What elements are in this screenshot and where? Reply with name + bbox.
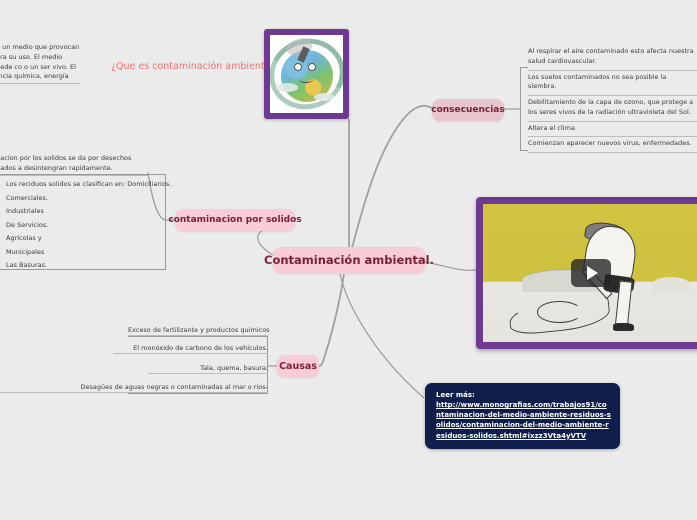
play-triangle — [587, 266, 598, 280]
definition-text: an un medio que provocan para su uso. El… — [0, 43, 80, 84]
list-item[interactable]: Comienzan aparecer nuevos virus, enferme… — [528, 137, 697, 153]
list-item[interactable]: Los reciduos solidos se clasifican en: D… — [6, 181, 159, 188]
question-label: ¿Que es contaminación ambiental? — [111, 61, 278, 72]
earth-eye-left — [294, 63, 302, 71]
snake-decor-2 — [537, 301, 582, 322]
list-item[interactable]: Debilitamiento de la capa de ozono, que … — [528, 96, 697, 122]
link-box[interactable]: Leer más: http://www.monografias.com/tra… — [425, 383, 620, 449]
list-item[interactable]: Tala, quema, basura. — [148, 364, 268, 374]
list-item[interactable]: Agrícolas y — [6, 235, 159, 242]
earth-face — [292, 63, 322, 85]
list-item[interactable]: Industriales — [6, 208, 159, 215]
branch-node-consecuencias[interactable]: consecuencias — [432, 99, 504, 121]
earth-eye-right — [308, 63, 316, 71]
branch-node-contaminacion-por-solidos[interactable]: contaminacion por solidos — [175, 209, 295, 231]
list-item[interactable]: Exceso de fertilizante y productos quími… — [128, 326, 268, 336]
video-node[interactable] — [476, 197, 697, 349]
list-item[interactable]: Las Basuras. — [6, 262, 159, 269]
video-thumbnail — [483, 204, 697, 342]
cloud-decor-1 — [276, 83, 298, 92]
list-item[interactable]: Desagües de aguas negras o contaminadas … — [0, 383, 268, 393]
solidos-description[interactable]: minacion por los solidos se da por desec… — [0, 154, 148, 176]
branch-node-causas[interactable]: Causas — [277, 355, 319, 377]
link-lead-label: Leer más: — [436, 390, 611, 400]
cloud-decor-2 — [314, 93, 334, 101]
character-shoe — [613, 323, 635, 331]
list-item[interactable]: El monóxido de carbono de los vehiculos. — [113, 344, 268, 354]
list-item[interactable]: Comerciales. — [6, 195, 159, 202]
list-item[interactable]: Municipales — [6, 249, 159, 256]
central-node[interactable]: Contaminación ambiental. — [273, 247, 425, 273]
earth-mouth — [299, 76, 313, 83]
list-item[interactable]: Los suelos contaminados no sea posible l… — [528, 71, 697, 97]
mindmap-canvas: an un medio que provocan para su uso. El… — [0, 0, 697, 520]
earth-image — [270, 35, 343, 113]
consecuencias-bracket — [520, 67, 528, 151]
list-item[interactable]: Altera el clima. — [528, 122, 697, 138]
list-item[interactable]: Al respirar el aire contaminado esto afe… — [528, 45, 697, 71]
solidos-items: Los reciduos solidos se clasifican en: D… — [0, 174, 166, 270]
source-link[interactable]: http://www.monografias.com/trabajos91/co… — [436, 400, 611, 441]
consecuencias-items: Al respirar el aire contaminado esto afe… — [528, 45, 697, 153]
hill-decor-2 — [652, 277, 691, 292]
play-icon[interactable] — [571, 259, 611, 287]
list-item[interactable]: De Servicios. — [6, 222, 159, 229]
earth-image-node[interactable] — [264, 29, 349, 119]
